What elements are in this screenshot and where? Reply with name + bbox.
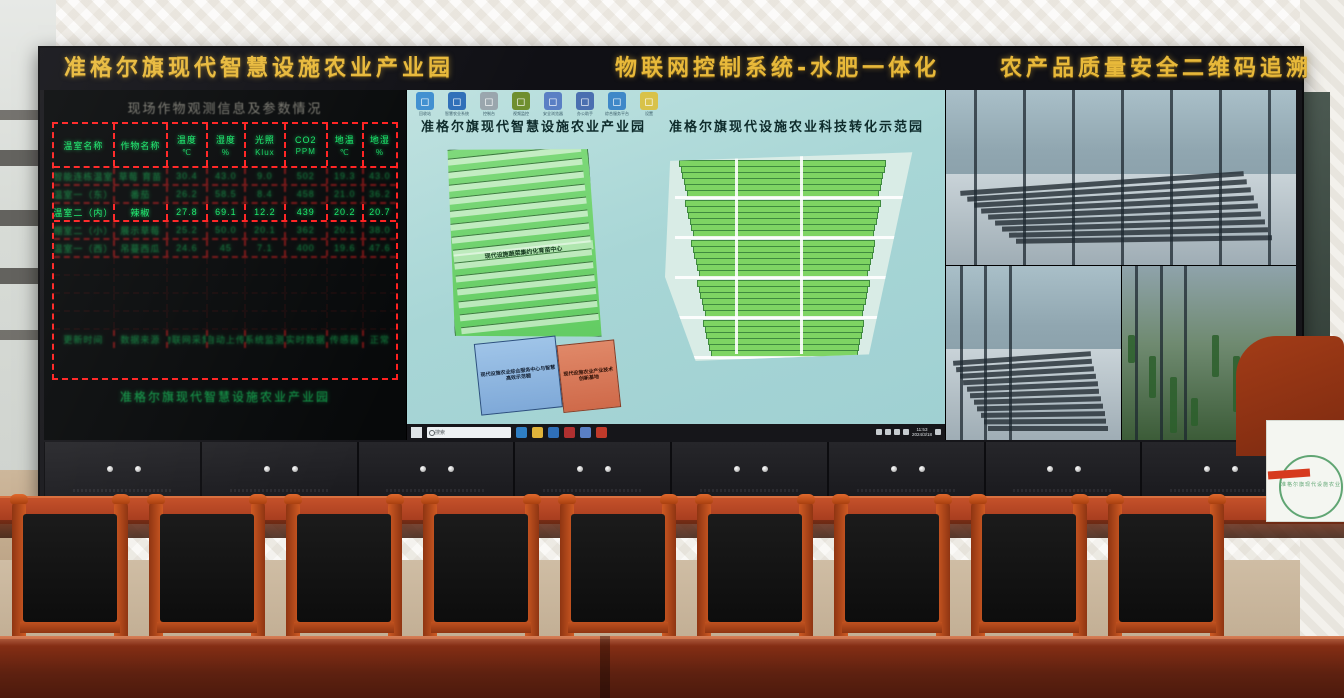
table-cell: 20.7 (364, 204, 396, 220)
table-cell: 温室二（内） (54, 204, 115, 220)
table-cell: 正常 (364, 330, 396, 348)
plan-road (675, 196, 905, 199)
chair-backrest (571, 514, 665, 622)
table-cell (328, 276, 364, 292)
equipment-cabinet[interactable] (201, 442, 358, 498)
cabinet-knob[interactable] (891, 466, 897, 472)
table-cell (364, 276, 396, 292)
taskbar-icon-monitor-app[interactable] (580, 427, 591, 438)
table-cell: 7.1 (246, 240, 286, 256)
cabinet-knob[interactable] (1075, 466, 1081, 472)
table-cell: 棚室二（小） (54, 222, 115, 238)
plot-green-area: 现代设施蔬菜集约化育苗中心 (435, 135, 607, 352)
table-cell (328, 312, 364, 328)
cabinet-knob[interactable] (577, 466, 583, 472)
table-cell: 12.2 (246, 204, 286, 220)
screen-row: 现场作物观测信息及参数情况 温室名称作物名称温度℃湿度%光照KluxCO2PPM… (44, 90, 1298, 440)
chair-caps (12, 494, 128, 504)
block-blue-label: 现代设施农业综合服务中心与智慧高效示范棚 (480, 365, 557, 385)
conference-chair (971, 500, 1087, 650)
cabinet-knob[interactable] (420, 466, 426, 472)
app-green-icon[interactable]: ◻视频监控 (507, 92, 535, 116)
conference-chair (12, 500, 128, 650)
cabinet-vent (386, 489, 485, 492)
chair-backrest (982, 514, 1076, 622)
table-cell: 20.2 (328, 204, 364, 220)
taskbar-clock[interactable]: 11:53 2024/3/18 (912, 427, 932, 437)
cabinet-vent (1170, 489, 1269, 492)
table-cell: 27.8 (168, 204, 208, 220)
table-cell: 物联网采集 (168, 330, 208, 348)
chair-caps (1108, 494, 1224, 504)
equipment-cabinet[interactable] (514, 442, 671, 498)
equipment-cabinet-row (44, 442, 1298, 498)
taskbar-icon-red-app[interactable] (596, 427, 607, 438)
app-grey-icon[interactable]: ◻控制台 (475, 92, 503, 116)
table-cell (168, 276, 208, 292)
table-cell: 458 (286, 186, 328, 202)
chair-crossbar (705, 622, 805, 633)
table-cell (168, 312, 208, 328)
app-blue-icon[interactable]: ◻智慧农业系统 (443, 92, 471, 116)
led-board-title: 现场作物观测信息及参数情况 (44, 98, 406, 117)
column-header: 作物名称 (115, 124, 168, 166)
crop-plant (1149, 356, 1156, 398)
recycle-bin-icon[interactable]: ◻回收站 (411, 92, 439, 116)
chair-caps (286, 494, 402, 504)
desk-sheen (0, 636, 1344, 646)
table-row (54, 276, 396, 294)
led-scroll-text: 准格尔旗现代智慧设施农业产业园 (44, 388, 406, 405)
chair-crossbar (568, 622, 668, 633)
conference-chair (423, 500, 539, 650)
table-cell: 展示草莓 (115, 222, 168, 238)
table-cell: 400 (286, 240, 328, 256)
video-wall: 准格尔旗现代智慧设施农业产业园 物联网控制系统-水肥一体化 农产品质量安全二维码… (38, 46, 1304, 502)
greenhouse-post (974, 90, 977, 265)
cabinet-vent (230, 489, 329, 492)
growing-bench (988, 426, 1108, 431)
table-cell: 温室一（西） (54, 240, 115, 256)
system-tray[interactable]: 11:53 2024/3/18 (876, 427, 941, 437)
table-cell (115, 312, 168, 328)
chair-crossbar (979, 622, 1079, 633)
greenhouse-post (1009, 266, 1012, 441)
column-header: 湿度% (208, 124, 246, 166)
greenhouse-post (1072, 90, 1075, 265)
cabinet-knob[interactable] (734, 466, 740, 472)
chair-crossbar (157, 622, 257, 633)
table-cell (364, 258, 396, 274)
table-row (54, 294, 396, 312)
chair-backrest (708, 514, 802, 622)
table-cell (364, 312, 396, 328)
greenhouse-post (1121, 90, 1124, 265)
column-header: 温度℃ (168, 124, 208, 166)
plan-road (675, 236, 905, 239)
search-globe-icon[interactable]: ◻综合服务平台 (603, 92, 631, 116)
greenhouse-post (984, 266, 987, 441)
table-cell (54, 276, 115, 292)
table-cell: 26.2 (168, 186, 208, 202)
table-cell (246, 258, 286, 274)
block-red: 现代设施农业产业技术创新基地 (556, 339, 621, 413)
table-cell (246, 276, 286, 292)
cabinet-vent (73, 489, 172, 492)
chair-crossbar (842, 622, 942, 633)
table-header-row: 温室名称作物名称温度℃湿度%光照KluxCO2PPM地温℃地湿% (54, 124, 396, 168)
desktop-icon-row: ◻回收站◻智慧农业系统◻控制台◻视频监控◻安全浏览器◻办公助手◻综合服务平台◻设… (411, 92, 663, 116)
chair-backrest (23, 514, 117, 622)
plan-road (675, 276, 905, 279)
table-cell: 20.1 (328, 222, 364, 238)
table-cell: 38.0 (364, 222, 396, 238)
table-cell (168, 258, 208, 274)
chair-caps (834, 494, 950, 504)
desk-seam (600, 636, 610, 698)
plan-road (735, 154, 738, 354)
chair-caps (149, 494, 265, 504)
taskbar-search-input[interactable]: 搜索 (427, 427, 511, 438)
greenhouse-post (960, 266, 963, 441)
crop-plant (1128, 335, 1135, 363)
table-cell (208, 312, 246, 328)
table-cell: 温室一（东） (54, 186, 115, 202)
conference-chair (834, 500, 950, 650)
conference-chair (149, 500, 265, 650)
clock-date: 2024/3/18 (912, 432, 932, 437)
banner-left: 准格尔旗现代智慧设施农业产业园 (64, 52, 454, 86)
equipment-cabinet[interactable] (358, 442, 515, 498)
tray-input-icon[interactable] (903, 429, 909, 435)
cabinet-vent (700, 489, 799, 492)
table-cell: 30.4 (168, 168, 208, 184)
table-cell (208, 276, 246, 292)
chair-crossbar (1116, 622, 1216, 633)
cabinet-knob[interactable] (605, 466, 611, 472)
table-cell: 番茄 (115, 186, 168, 202)
column-header: 温室名称 (54, 124, 115, 166)
table-cell: 吊蔓西瓜 (115, 240, 168, 256)
chat-icon[interactable]: ◻办公助手 (571, 92, 599, 116)
browser-icon[interactable]: ◻安全浏览器 (539, 92, 567, 116)
chair-backrest (434, 514, 528, 622)
table-cell (286, 294, 328, 310)
table-cell (328, 294, 364, 310)
start-button-icon[interactable] (411, 427, 422, 438)
chair-caps (697, 494, 813, 504)
control-room-photo: 准格尔旗现代智慧设施农业产业园 物联网控制系统-水肥一体化 农产品质量安全二维码… (0, 0, 1344, 698)
cabinet-knob[interactable] (448, 466, 454, 472)
cabinet-knob[interactable] (1204, 466, 1210, 472)
table-row: 温室二（内）辣椒27.869.112.243920.220.7 (54, 204, 396, 222)
table-cell: 21.0 (328, 186, 364, 202)
table-cell: 43.0 (208, 168, 246, 184)
banner-center: 物联网控制系统-水肥一体化 (615, 52, 940, 86)
cabinet-knob[interactable] (292, 466, 298, 472)
camera-greenhouse-wide[interactable] (946, 90, 1296, 265)
greenhouse-post (1023, 90, 1026, 265)
chair-caps (560, 494, 676, 504)
sign-logo-icon: 准格尔旗现代设施农业 (1279, 455, 1343, 519)
greenhouse-post (1184, 266, 1187, 441)
table-cell: 更新时间 (54, 330, 115, 348)
plan-right-title: 准格尔旗现代设施农业科技转化示范园 (669, 116, 924, 135)
column-header: CO2PPM (286, 124, 328, 166)
taskbar-icon-browser[interactable] (516, 427, 527, 438)
plan-road (675, 356, 905, 359)
conference-chair (286, 500, 402, 650)
table-cell: 43.0 (364, 168, 396, 184)
table-cell: 45 (208, 240, 246, 256)
cabinet-knob[interactable] (264, 466, 270, 472)
table-cell: 8.4 (246, 186, 286, 202)
table-cell (208, 258, 246, 274)
conference-chair (560, 500, 676, 650)
table-cell: 502 (286, 168, 328, 184)
crop-plant (1170, 377, 1177, 433)
windows-taskbar[interactable]: 搜索 11:53 2024/3/18 (407, 424, 945, 440)
greenhouse-post (1268, 90, 1271, 265)
table-cell (54, 294, 115, 310)
block-blue: 现代设施农业综合服务中心与智慧高效示范棚 (474, 335, 563, 415)
table-row (54, 312, 396, 330)
table-row (54, 258, 396, 276)
cabinet-vent (543, 489, 642, 492)
table-cell: 19.3 (328, 168, 364, 184)
table-cell: 系统监测 (246, 330, 286, 348)
site-plan-left: 现代设施蔬菜集约化育苗中心 现代设施农业综合服务中心与智慧高效示范棚 现代设施农… (435, 134, 618, 379)
table-row: 温室一（西）吊蔓西瓜24.6457.140019.647.6 (54, 240, 396, 258)
equipment-cabinet[interactable] (985, 442, 1142, 498)
taskbar-icon-explorer[interactable] (532, 427, 543, 438)
conference-chair (1108, 500, 1224, 650)
table-cell: 智能连栋温室 (54, 168, 115, 184)
block-red-label: 现代设施农业产业技术创新基地 (562, 367, 615, 384)
camera-seedling-benches[interactable]: 智慧农业物联网 (946, 266, 1121, 441)
conference-chair (697, 500, 813, 650)
cabinet-vent (857, 489, 956, 492)
plan-road (800, 154, 803, 354)
table-cell: 50.0 (208, 222, 246, 238)
equipment-cabinet[interactable] (671, 442, 828, 498)
table-cell (246, 312, 286, 328)
chair-crossbar (294, 622, 394, 633)
table-cell (364, 294, 396, 310)
tray-network-icon[interactable] (885, 429, 891, 435)
chair-backrest (297, 514, 391, 622)
site-plan-right (657, 148, 927, 373)
greenhouse-post (1160, 266, 1163, 441)
app-yellow-icon[interactable]: ◻设置 (635, 92, 663, 116)
table-cell (54, 312, 115, 328)
chair-crossbar (431, 622, 531, 633)
show-desktop-icon[interactable] (935, 429, 941, 435)
chair-backrest (1119, 514, 1213, 622)
table-cell: 47.6 (364, 240, 396, 256)
table-row: 更新时间数据来源物联网采集自动上传系统监测实时数据传感器正常 (54, 330, 396, 348)
table-cell: 传感器 (328, 330, 364, 348)
table-cell: 实时数据 (286, 330, 328, 348)
table-cell (54, 258, 115, 274)
table-cell (168, 294, 208, 310)
table-cell: 9.0 (246, 168, 286, 184)
table-cell: 58.5 (208, 186, 246, 202)
table-cell: 辣椒 (115, 204, 168, 220)
cabinet-knob[interactable] (135, 466, 141, 472)
chair-caps (423, 494, 539, 504)
column-header: 地温℃ (328, 124, 364, 166)
pc-desktop-screen[interactable]: ◻回收站◻智慧农业系统◻控制台◻视频监控◻安全浏览器◻办公助手◻综合服务平台◻设… (407, 90, 946, 440)
tray-volume-icon[interactable] (894, 429, 900, 435)
column-header: 光照Klux (246, 124, 286, 166)
greenhouse-field-plan (665, 148, 920, 363)
table-cell (115, 294, 168, 310)
banner-right: 农产品质量安全二维码追溯 (1000, 52, 1312, 86)
taskbar-icon-media[interactable] (564, 427, 575, 438)
cabinet-knob[interactable] (1047, 466, 1053, 472)
table-cell: 69.1 (208, 204, 246, 220)
table-cell: 439 (286, 204, 328, 220)
table-cell: 数据来源 (115, 330, 168, 348)
taskbar-icon-store[interactable] (548, 427, 559, 438)
table-cell (286, 258, 328, 274)
table-cell (328, 258, 364, 274)
cabinet-knob[interactable] (1232, 466, 1238, 472)
chair-crossbar (20, 622, 120, 633)
column-header: 地湿% (364, 124, 396, 166)
chair-backrest (160, 514, 254, 622)
crop-plant (1191, 398, 1198, 426)
cabinet-vent (1013, 489, 1112, 492)
cabinet-knob[interactable] (762, 466, 768, 472)
table-row: 棚室二（小）展示草莓25.250.020.136220.138.0 (54, 222, 396, 240)
table-cell (208, 294, 246, 310)
table-row: 温室一（东）番茄26.258.58.445821.036.2 (54, 186, 396, 204)
table-cell (286, 276, 328, 292)
table-cell: 25.2 (168, 222, 208, 238)
cabinet-knob[interactable] (107, 466, 113, 472)
plan-road (675, 316, 905, 319)
table-cell: 20.1 (246, 222, 286, 238)
table-cell: 草莓 育苗 (115, 168, 168, 184)
chair-caps (971, 494, 1087, 504)
greenhouse-post (1219, 90, 1222, 265)
sensor-table: 温室名称作物名称温度℃湿度%光照KluxCO2PPM地温℃地湿%智能连栋温室草莓… (52, 122, 398, 380)
table-cell (115, 276, 168, 292)
sign-logo-text: 准格尔旗现代设施农业 (1281, 481, 1341, 488)
cabinet-knob[interactable] (919, 466, 925, 472)
crop-plant (1212, 335, 1219, 377)
tray-chevron-icon[interactable] (876, 429, 882, 435)
greenhouse-post (1170, 90, 1173, 265)
table-cell: 362 (286, 222, 328, 238)
chair-backrest (845, 514, 939, 622)
table-cell (246, 294, 286, 310)
table-cell: 19.6 (328, 240, 364, 256)
led-data-board[interactable]: 现场作物观测信息及参数情况 温室名称作物名称温度℃湿度%光照KluxCO2PPM… (44, 90, 407, 440)
greenhouse-post (1135, 266, 1138, 441)
equipment-cabinet[interactable] (44, 442, 201, 498)
table-row: 智能连栋温室草莓 育苗30.443.09.050219.343.0 (54, 168, 396, 186)
growing-bench (984, 419, 1106, 425)
table-cell: 24.6 (168, 240, 208, 256)
table-cell: 36.2 (364, 186, 396, 202)
table-cell (115, 258, 168, 274)
equipment-cabinet[interactable] (828, 442, 985, 498)
table-cell (286, 312, 328, 328)
plan-left-title: 准格尔旗现代智慧设施农业产业园 (421, 116, 646, 135)
table-cell: 自动上传 (208, 330, 246, 348)
